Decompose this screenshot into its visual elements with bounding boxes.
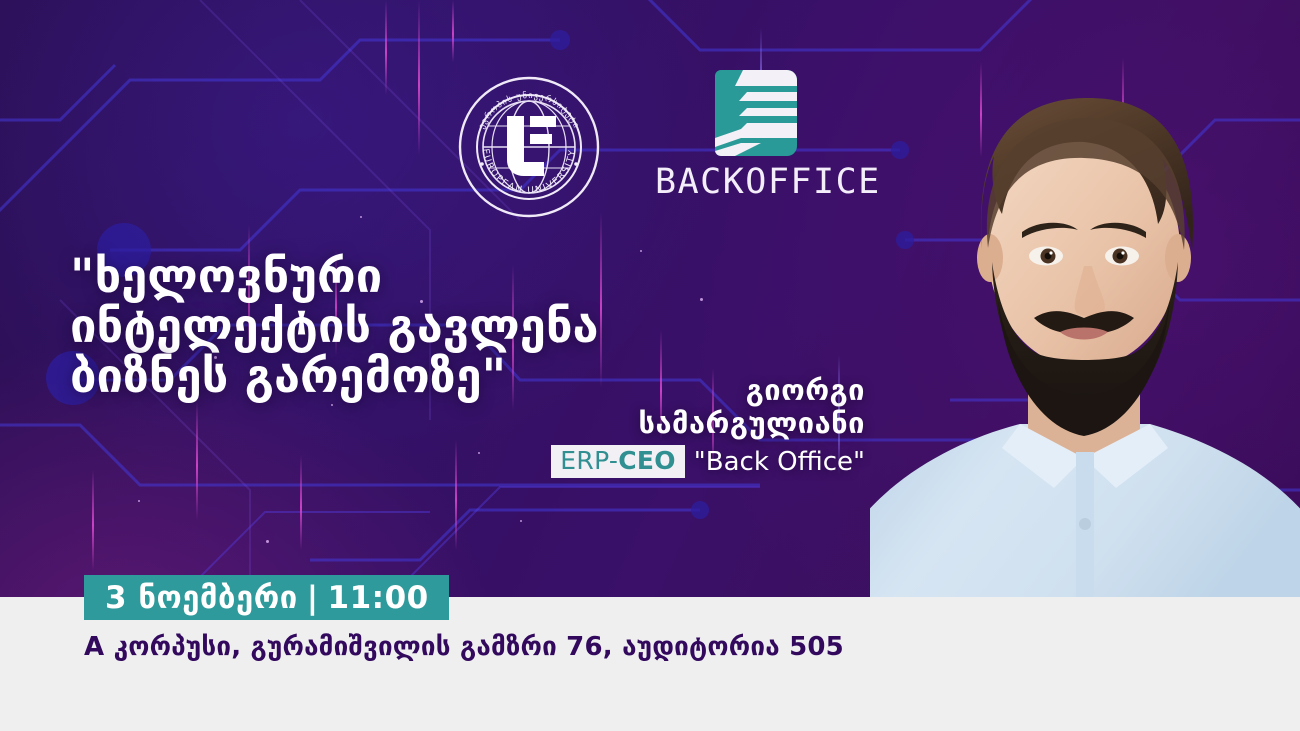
badge-role: CEO (618, 446, 676, 475)
speaker-last-name: სამარგულიანი (551, 407, 865, 440)
badge-prefix: ERP- (560, 446, 618, 475)
event-address: A კორპუსი, გურამიშვილის გამზრი 76, აუდიტ… (84, 632, 844, 662)
speaker-first-name: გიორგი (551, 374, 865, 407)
headline-line-1: "ხელოვნური (70, 252, 690, 302)
headline-line-2: ინტელექტის გავლენა (70, 302, 690, 352)
event-banner: ევროპის უნივერსიტეტი EUROPEAN UNIVERSITY (0, 0, 1300, 731)
speaker-portrait (870, 0, 1300, 597)
european-university-seal-icon: ევროპის უნივერსიტეტი EUROPEAN UNIVERSITY (458, 76, 600, 218)
svg-text:ევროპის უნივერსიტეტი: ევროპის უნივერსიტეტი (477, 90, 581, 131)
speaker-info: გიორგი სამარგულიანი ERP-CEO "Back Office… (551, 374, 865, 478)
speaker-company: "Back Office" (694, 448, 865, 476)
banner-background: ევროპის უნივერსიტეტი EUROPEAN UNIVERSITY (0, 0, 1300, 597)
event-time: 11:00 (328, 580, 429, 616)
seal-arc-top-text: ევროპის უნივერსიტეტი (477, 90, 581, 131)
stacked-documents-icon (707, 58, 803, 166)
status-badge: ERP-CEO (551, 445, 685, 478)
backoffice-logo: BACKOFFICE (655, 58, 855, 203)
event-date-banner: 3 ნოემბერი | 11:00 (84, 575, 449, 620)
speaker-role-row: ERP-CEO "Back Office" (551, 445, 865, 478)
event-date: 3 ნოემბერი (105, 580, 298, 616)
backoffice-wordmark: BACKOFFICE (655, 162, 855, 202)
date-time-separator: | (298, 580, 328, 616)
